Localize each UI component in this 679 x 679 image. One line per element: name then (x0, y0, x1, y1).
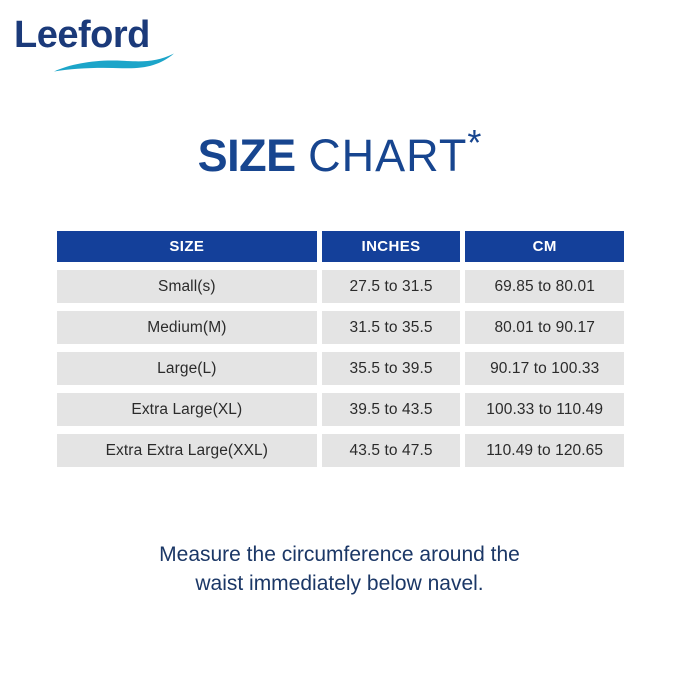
cell-size: Large(L) (57, 352, 317, 385)
cell-cm: 90.17 to 100.33 (465, 352, 624, 385)
cell-cm: 110.49 to 120.65 (465, 434, 624, 467)
cell-inches: 39.5 to 43.5 (322, 393, 461, 426)
title-light: CHART (308, 130, 467, 181)
size-chart-table: SIZE INCHES CM Small(s) 27.5 to 31.5 69.… (57, 231, 624, 467)
column-header-size: SIZE (57, 231, 317, 262)
page-title: SIZE CHART* (0, 130, 679, 182)
cell-size: Small(s) (57, 270, 317, 303)
cell-inches: 27.5 to 31.5 (322, 270, 461, 303)
column-header-inches: INCHES (322, 231, 461, 262)
table-row: Medium(M) 31.5 to 35.5 80.01 to 90.17 (57, 311, 624, 344)
column-header-cm: CM (465, 231, 624, 262)
cell-inches: 31.5 to 35.5 (322, 311, 461, 344)
cell-inches: 43.5 to 47.5 (322, 434, 461, 467)
cell-cm: 69.85 to 80.01 (465, 270, 624, 303)
cell-inches: 35.5 to 39.5 (322, 352, 461, 385)
cell-cm: 100.33 to 110.49 (465, 393, 624, 426)
note-line-2: waist immediately below navel. (105, 569, 574, 598)
wave-swoosh-icon (52, 52, 176, 74)
brand-logo: Leeford (14, 14, 214, 74)
title-asterisk: * (467, 122, 481, 163)
cell-size: Extra Extra Large(XXL) (57, 434, 317, 467)
table-header-row: SIZE INCHES CM (57, 231, 624, 262)
table-row: Extra Large(XL) 39.5 to 43.5 100.33 to 1… (57, 393, 624, 426)
cell-size: Extra Large(XL) (57, 393, 317, 426)
measurement-note: Measure the circumference around the wai… (0, 540, 679, 598)
title-bold: SIZE (198, 130, 296, 181)
table-row: Small(s) 27.5 to 31.5 69.85 to 80.01 (57, 270, 624, 303)
brand-name: Leeford (14, 14, 150, 56)
cell-size: Medium(M) (57, 311, 317, 344)
note-line-1: Measure the circumference around the (105, 540, 574, 569)
table-row: Extra Extra Large(XXL) 43.5 to 47.5 110.… (57, 434, 624, 467)
cell-cm: 80.01 to 90.17 (465, 311, 624, 344)
table-row: Large(L) 35.5 to 39.5 90.17 to 100.33 (57, 352, 624, 385)
